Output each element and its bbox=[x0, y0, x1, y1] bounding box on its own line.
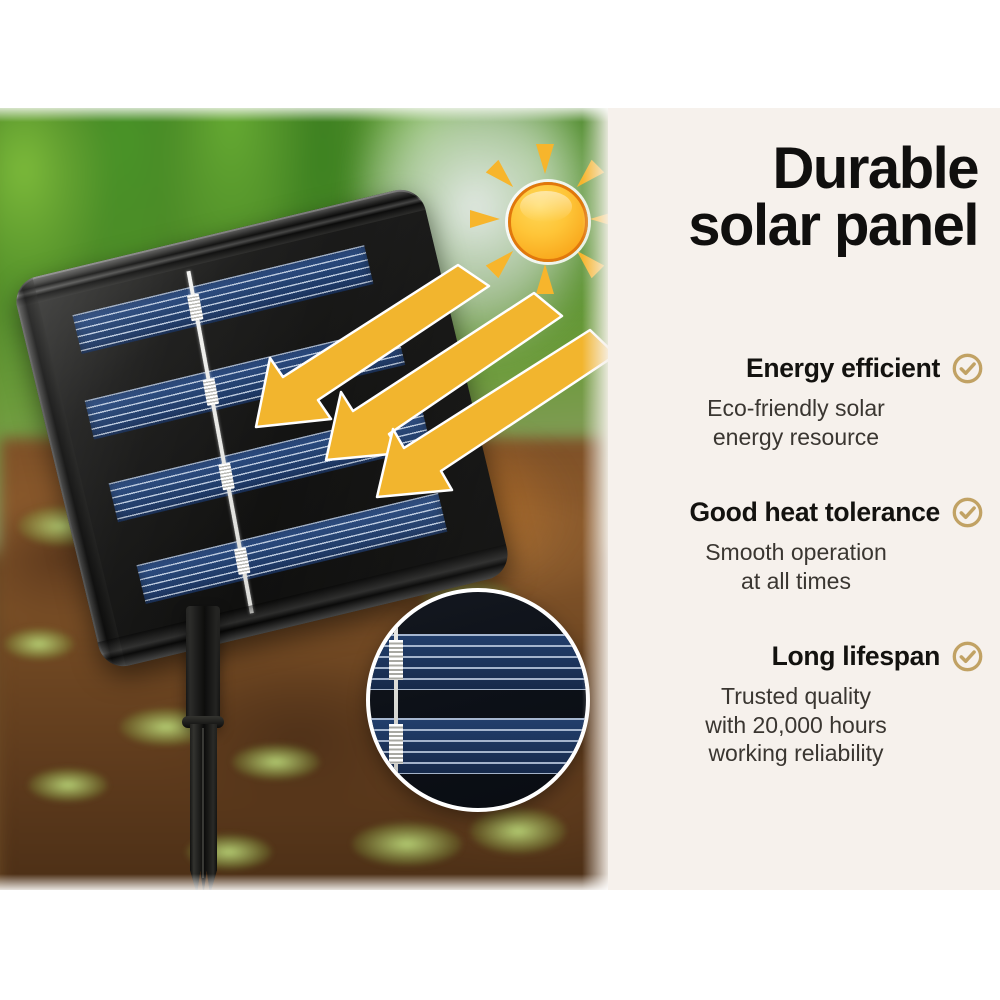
feature-heading: Energy efficient bbox=[746, 353, 940, 384]
sun-disc bbox=[508, 182, 588, 262]
feature-description-line: at all times bbox=[608, 567, 984, 596]
magnified-detail-circle bbox=[366, 588, 590, 812]
sun-ray bbox=[536, 264, 554, 294]
feature-description-line: Eco-friendly solar bbox=[608, 394, 984, 423]
content-band: Durable solar panel Energy efficient Eco… bbox=[0, 108, 1000, 890]
solar-cell-array bbox=[57, 238, 468, 623]
feature-block-energy-efficient: Energy efficient Eco-friendly solar ener… bbox=[608, 352, 1000, 451]
magnified-busbar-tab bbox=[389, 640, 403, 680]
photo-right-fade bbox=[582, 108, 608, 890]
feature-description-line: Trusted quality bbox=[608, 682, 984, 711]
stake-seam bbox=[202, 728, 204, 878]
feature-description: Smooth operation at all times bbox=[608, 538, 1000, 595]
feature-description: Trusted quality with 20,000 hours workin… bbox=[608, 682, 1000, 768]
feature-heading: Long lifespan bbox=[772, 641, 940, 672]
feature-heading-row: Long lifespan bbox=[608, 640, 1000, 673]
product-feature-image: Durable solar panel Energy efficient Eco… bbox=[0, 0, 1000, 1000]
feature-block-long-lifespan: Long lifespan Trusted quality with 20,00… bbox=[608, 640, 1000, 768]
check-circle-icon bbox=[951, 496, 984, 529]
photo-top-fade bbox=[0, 108, 608, 122]
product-photo bbox=[0, 108, 608, 890]
sun-ray bbox=[486, 244, 520, 278]
feature-description: Eco-friendly solar energy resource bbox=[608, 394, 1000, 451]
feature-heading: Good heat tolerance bbox=[689, 497, 940, 528]
sun-ray bbox=[470, 210, 500, 228]
page-title: Durable solar panel bbox=[688, 140, 978, 255]
sun-ray bbox=[536, 144, 554, 174]
feature-block-good-heat-tolerance: Good heat tolerance Smooth operation at … bbox=[608, 496, 1000, 595]
title-line-2: solar panel bbox=[688, 197, 978, 254]
stake-upper bbox=[186, 606, 220, 726]
magnified-busbar-tab bbox=[389, 724, 403, 764]
feature-description-line: energy resource bbox=[608, 423, 984, 452]
feature-description-line: with 20,000 hours bbox=[608, 711, 984, 740]
info-panel: Durable solar panel Energy efficient Eco… bbox=[608, 108, 1000, 890]
check-circle-icon bbox=[951, 352, 984, 385]
check-circle-icon bbox=[951, 640, 984, 673]
feature-heading-row: Energy efficient bbox=[608, 352, 1000, 385]
sun-ray bbox=[486, 160, 520, 194]
title-line-1: Durable bbox=[773, 136, 978, 201]
feature-heading-row: Good heat tolerance bbox=[608, 496, 1000, 529]
feature-description-line: working reliability bbox=[608, 739, 984, 768]
feature-description-line: Smooth operation bbox=[608, 538, 984, 567]
photo-bottom-fade bbox=[0, 874, 608, 890]
